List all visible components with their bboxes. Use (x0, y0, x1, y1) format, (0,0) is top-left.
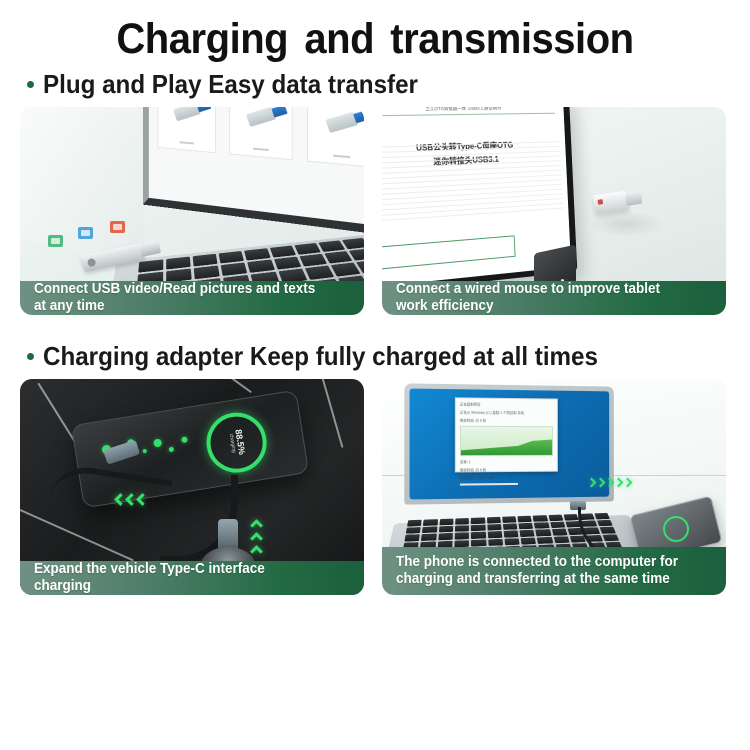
dialog-detail-3: 剩余项目: 1 (35.7 MB) (460, 475, 553, 481)
dialog-line-1: 正在从 Windows (C:) 复制 1 个项目到 手机 (460, 410, 553, 416)
charging-ring-indicator: 88.5% charging (202, 408, 271, 477)
caption-bar-4: The phone is connected to the computer f… (382, 547, 726, 595)
caption-bar-2: Connect a wired mouse to improve tablet … (382, 281, 726, 315)
dialog-detail-1: 名称: 1 (460, 459, 553, 464)
section-heading-2: Charging adapter Keep fully charged at a… (0, 333, 750, 379)
panel-usb-video[interactable]: Connect USB video/Read pictures and text… (20, 107, 364, 315)
dialog-line-2: 剩余时间: 约 5 秒 (460, 418, 553, 424)
file-copy-dialog: 正在复制项目 正在从 Windows (C:) 复制 1 个项目到 手机 剩余时… (455, 397, 558, 472)
transfer-speed-graph (460, 426, 553, 456)
caption-text-4: The phone is connected to the computer f… (396, 554, 678, 588)
caption-text-3: Expand the vehicle Type-C interface char… (34, 561, 318, 595)
panel-row-top: Connect USB video/Read pictures and text… (0, 107, 750, 315)
panel-row-bottom: 88.5% charging (0, 379, 750, 595)
dialog-detail-2: 剩余时间: 约 5 秒 (460, 467, 553, 473)
dialog-title: 正在复制项目 (460, 401, 553, 407)
section-heading-1-label: Plug and Play Easy data transfer (43, 69, 418, 100)
bullet-icon (27, 353, 34, 360)
caption-text-2: Connect a wired mouse to improve tablet … (396, 281, 680, 315)
bullet-icon (27, 81, 34, 88)
charging-ring-indicator (660, 513, 692, 545)
page-title: Charging and transmission (26, 0, 724, 61)
panel-wired-mouse[interactable]: 之工OTG转接器一体 ,USB3.1,解说明书 USB公头转Type-C母座OT… (382, 107, 726, 315)
panel-phone-computer[interactable]: 正在复制项目 正在从 Windows (C:) 复制 1 个项目到 手机 剩余时… (382, 379, 726, 595)
panel-car-charging[interactable]: 88.5% charging (20, 379, 364, 595)
caption-bar-3: Expand the vehicle Type-C interface char… (20, 561, 364, 595)
battery-percent: 88.5% charging (227, 429, 246, 457)
section-heading-2-label: Charging adapter Keep fully charged at a… (43, 341, 598, 372)
laptop-lid: 正在复制项目 正在从 Windows (C:) 复制 1 个项目到 手机 剩余时… (404, 383, 614, 504)
laptop-desktop: 正在复制项目 正在从 Windows (C:) 复制 1 个项目到 手机 剩余时… (410, 389, 610, 500)
caption-bar-1: Connect USB video/Read pictures and text… (20, 281, 364, 315)
caption-text-1: Connect USB video/Read pictures and text… (34, 281, 318, 315)
section-heading-1: Plug and Play Easy data transfer (0, 61, 750, 107)
